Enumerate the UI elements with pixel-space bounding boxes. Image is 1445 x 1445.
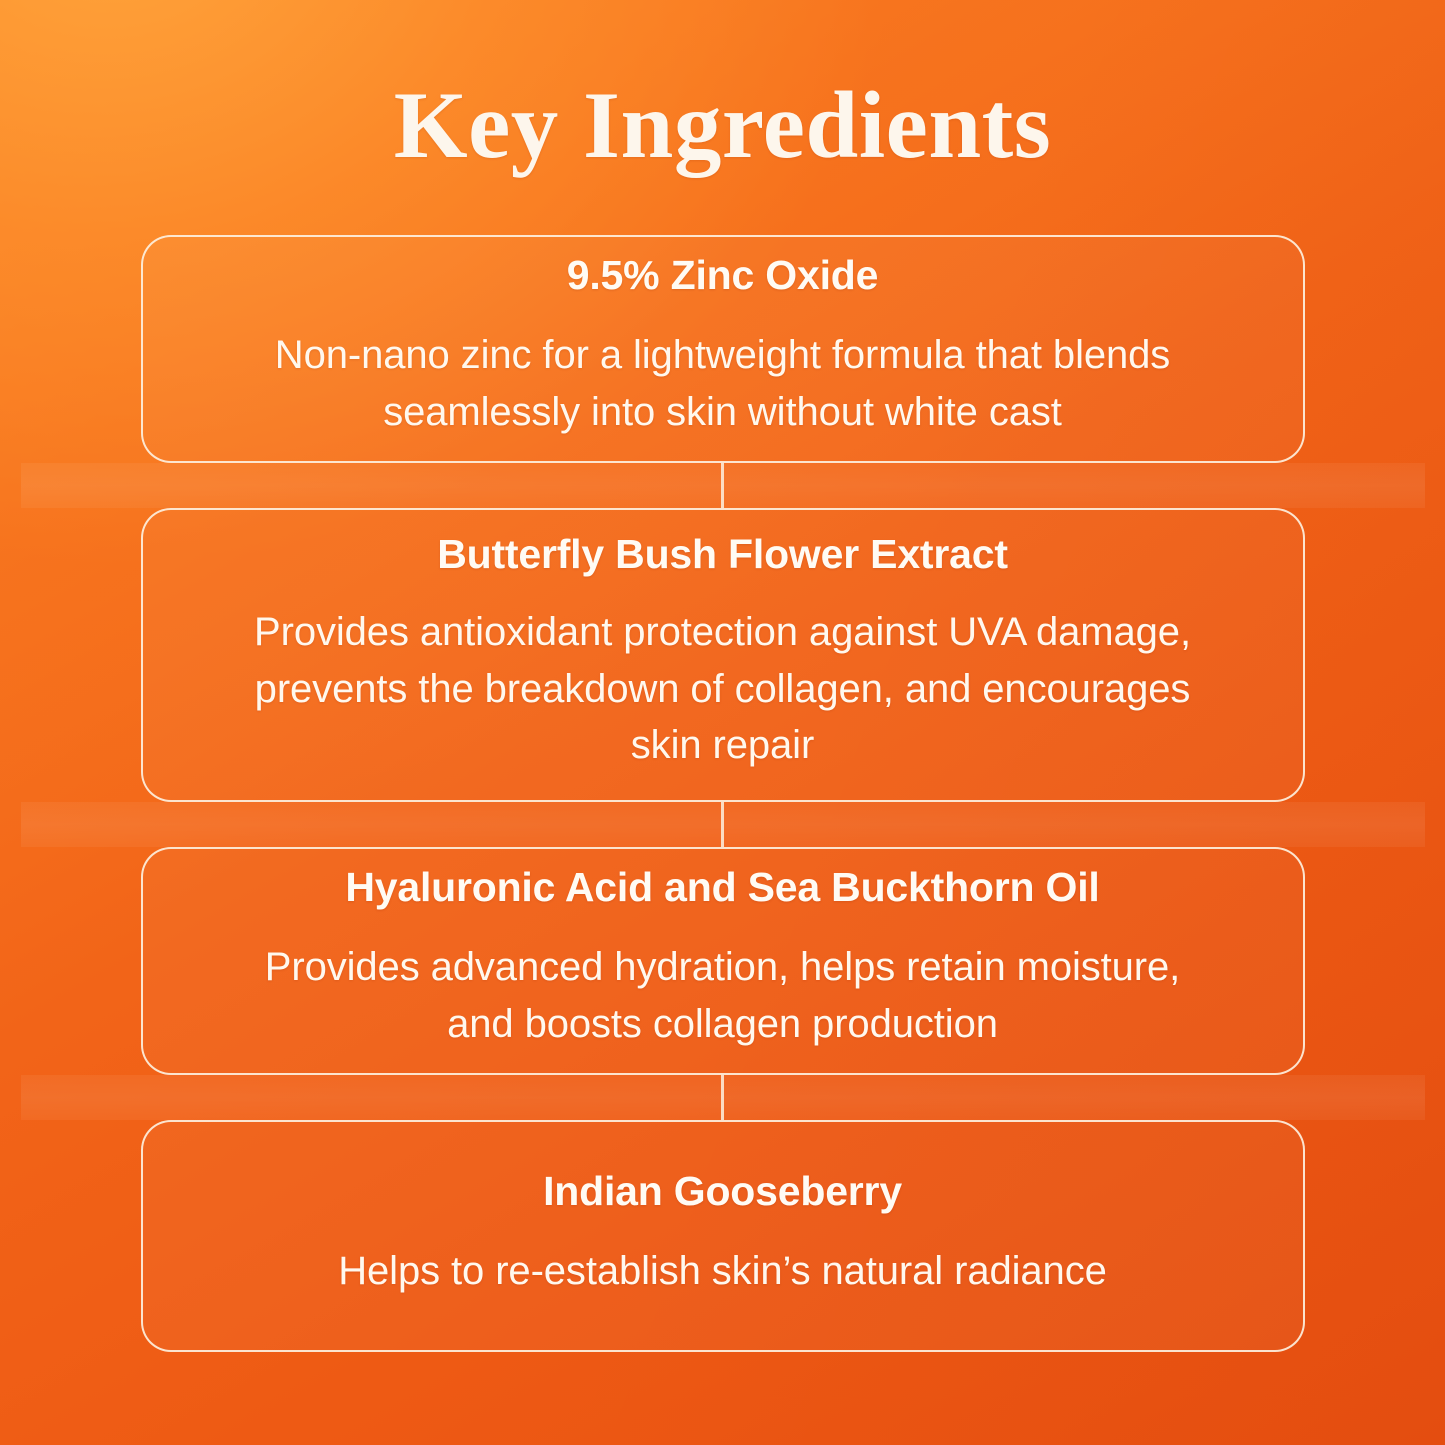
- page-title: Key Ingredients: [394, 78, 1052, 173]
- ingredient-title: Hyaluronic Acid and Sea Buckthorn Oil: [345, 865, 1099, 911]
- ingredient-description: Provides advanced hydration, helps retai…: [248, 939, 1198, 1053]
- ingredient-title: 9.5% Zinc Oxide: [567, 253, 878, 299]
- card-connector-2: [721, 802, 724, 847]
- ingredient-description: Provides antioxidant protection against …: [223, 604, 1223, 774]
- ingredient-title: Butterfly Bush Flower Extract: [437, 532, 1008, 578]
- ingredient-card-stack: 9.5% Zinc Oxide Non-nano zinc for a ligh…: [141, 235, 1305, 1352]
- ingredient-card-indian-gooseberry: Indian Gooseberry Helps to re-establish …: [141, 1120, 1305, 1352]
- ingredient-card-hyaluronic-acid-sea-buckthorn-oil: Hyaluronic Acid and Sea Buckthorn Oil Pr…: [141, 847, 1305, 1075]
- key-ingredients-panel: Key Ingredients 9.5% Zinc Oxide Non-nano…: [0, 0, 1445, 1445]
- ingredient-description: Helps to re-establish skin’s natural rad…: [338, 1243, 1107, 1300]
- card-connector-1: [721, 463, 724, 508]
- ingredient-card-zinc-oxide: 9.5% Zinc Oxide Non-nano zinc for a ligh…: [141, 235, 1305, 463]
- ingredient-description: Non-nano zinc for a lightweight formula …: [223, 327, 1223, 441]
- ingredient-card-butterfly-bush-flower-extract: Butterfly Bush Flower Extract Provides a…: [141, 508, 1305, 802]
- ingredient-title: Indian Gooseberry: [543, 1169, 902, 1215]
- card-connector-3: [721, 1075, 724, 1120]
